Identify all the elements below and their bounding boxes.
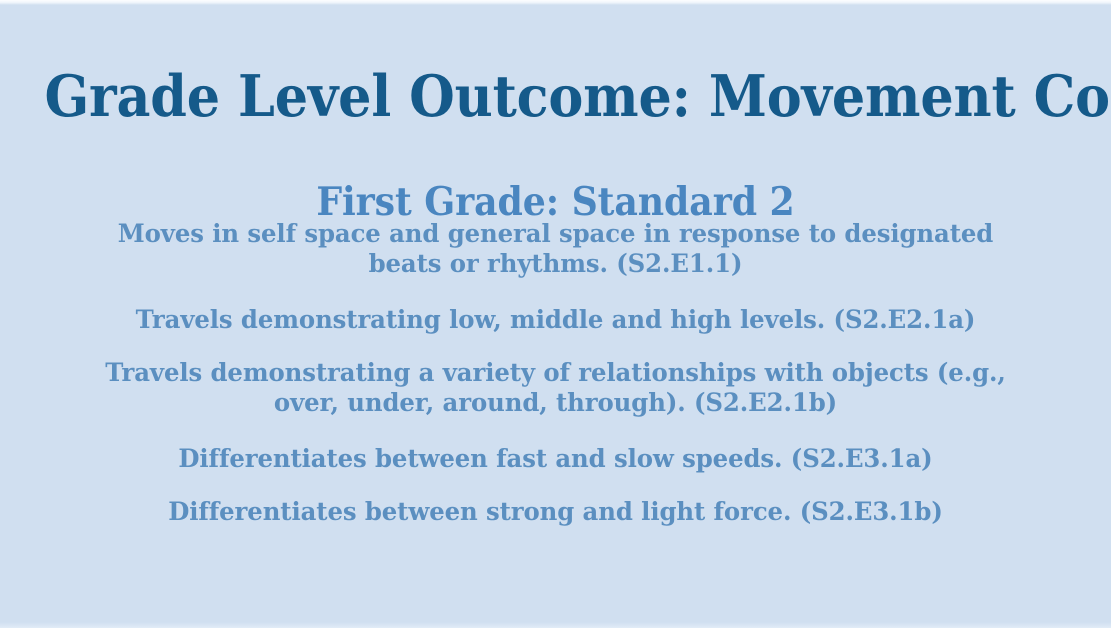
list-item: Differentiates between fast and slow spe… <box>78 444 1034 474</box>
slide-canvas: Grade Level Outcome: Movement Concepts F… <box>0 0 1111 628</box>
slide-content: Grade Level Outcome: Movement Concepts F… <box>0 0 1111 628</box>
list-item: Travels demonstrating low, middle and hi… <box>78 305 1034 335</box>
list-item: Differentiates between strong and light … <box>78 497 1034 527</box>
bottom-edge-band <box>0 622 1111 628</box>
page-title: Grade Level Outcome: Movement Concepts <box>44 65 1066 129</box>
list-item: Travels demonstrating a variety of relat… <box>78 358 1034 418</box>
list-item: Moves in self space and general space in… <box>78 219 1034 279</box>
outcome-list: Moves in self space and general space in… <box>55 219 1056 527</box>
